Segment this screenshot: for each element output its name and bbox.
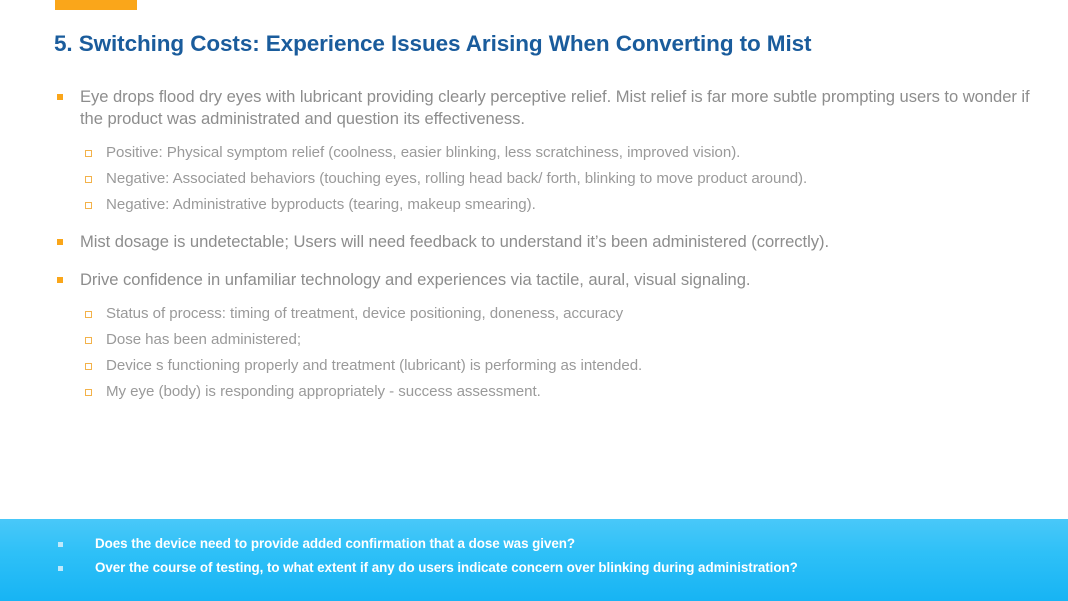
- footer-question-item: Over the course of testing, to what exte…: [0, 560, 1068, 577]
- sub-bullet-item: Positive: Physical symptom relief (cooln…: [0, 143, 1068, 163]
- bullet-text: Mist dosage is undetectable; Users will …: [80, 232, 829, 251]
- sub-bullet-item: Dose has been administered;: [0, 330, 1068, 350]
- hollow-square-bullet-icon: [85, 311, 92, 318]
- accent-bar: [55, 0, 137, 10]
- sub-bullet-item: Negative: Associated behaviors (touching…: [0, 169, 1068, 189]
- sub-bullet-item: Device s functioning properly and treatm…: [0, 356, 1068, 376]
- bullet-group: Mist dosage is undetectable; Users will …: [0, 231, 1068, 253]
- sub-bullet-text: My eye (body) is responding appropriatel…: [106, 383, 541, 400]
- bullet-text: Drive confidence in unfamiliar technolog…: [80, 270, 750, 289]
- square-bullet-icon: [57, 239, 63, 245]
- hollow-square-bullet-icon: [85, 150, 92, 157]
- sub-bullet-item: Negative: Administrative byproducts (tea…: [0, 195, 1068, 215]
- sub-bullet-list: Status of process: timing of treatment, …: [0, 304, 1068, 402]
- square-bullet-icon: [58, 542, 63, 547]
- sub-bullet-list: Positive: Physical symptom relief (cooln…: [0, 143, 1068, 215]
- bullet-group: Eye drops flood dry eyes with lubricant …: [0, 86, 1068, 215]
- sub-bullet-text: Dose has been administered;: [106, 331, 301, 348]
- bullet-item: Mist dosage is undetectable; Users will …: [0, 231, 1068, 253]
- footer-question-list: Does the device need to provide added co…: [0, 536, 1068, 584]
- footer-question-text: Over the course of testing, to what exte…: [95, 560, 798, 575]
- bullet-item: Eye drops flood dry eyes with lubricant …: [0, 86, 1068, 130]
- bullet-item: Drive confidence in unfamiliar technolog…: [0, 269, 1068, 291]
- square-bullet-icon: [57, 277, 63, 283]
- sub-bullet-text: Positive: Physical symptom relief (cooln…: [106, 144, 740, 161]
- hollow-square-bullet-icon: [85, 389, 92, 396]
- sub-bullet-text: Device s functioning properly and treatm…: [106, 357, 642, 374]
- hollow-square-bullet-icon: [85, 363, 92, 370]
- bullet-text: Eye drops flood dry eyes with lubricant …: [80, 87, 1030, 128]
- body-content: Eye drops flood dry eyes with lubricant …: [0, 86, 1068, 408]
- hollow-square-bullet-icon: [85, 337, 92, 344]
- sub-bullet-item: Status of process: timing of treatment, …: [0, 304, 1068, 324]
- bullet-group: Drive confidence in unfamiliar technolog…: [0, 269, 1068, 402]
- hollow-square-bullet-icon: [85, 202, 92, 209]
- footer-banner: Does the device need to provide added co…: [0, 519, 1068, 601]
- square-bullet-icon: [57, 94, 63, 100]
- sub-bullet-text: Negative: Associated behaviors (touching…: [106, 170, 807, 187]
- page-title: 5. Switching Costs: Experience Issues Ar…: [54, 30, 1034, 57]
- footer-question-text: Does the device need to provide added co…: [95, 536, 575, 551]
- slide: 5. Switching Costs: Experience Issues Ar…: [0, 0, 1068, 601]
- sub-bullet-item: My eye (body) is responding appropriatel…: [0, 382, 1068, 402]
- sub-bullet-text: Status of process: timing of treatment, …: [106, 305, 623, 322]
- footer-question-item: Does the device need to provide added co…: [0, 536, 1068, 553]
- hollow-square-bullet-icon: [85, 176, 92, 183]
- square-bullet-icon: [58, 566, 63, 571]
- sub-bullet-text: Negative: Administrative byproducts (tea…: [106, 196, 536, 213]
